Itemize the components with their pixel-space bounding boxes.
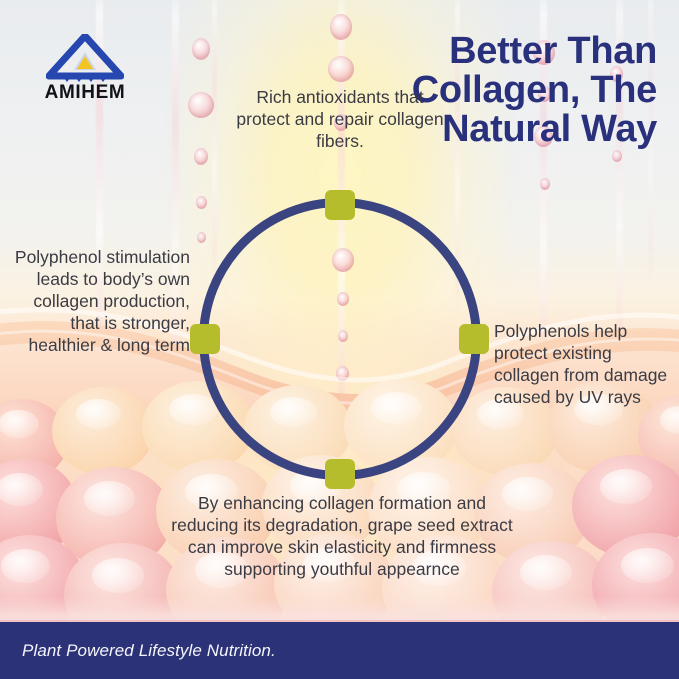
node-right-marker	[459, 324, 489, 354]
node-left-marker	[190, 324, 220, 354]
amihem-triangle-logo-icon	[46, 34, 124, 87]
benefit-top-text: Rich antioxidants that protect and repai…	[235, 86, 445, 152]
node-bottom-marker	[325, 459, 355, 489]
collagen-infographic: AMIHEM Better Than Collagen, The Natural…	[0, 0, 679, 679]
footer-bar: Plant Powered Lifestyle Nutrition.	[0, 622, 679, 679]
collagen-cycle-ring	[199, 198, 481, 480]
benefit-left-text: Polyphenol stimulation leads to body’s o…	[12, 246, 190, 356]
benefit-right-text: Polyphenols help protect existing collag…	[494, 320, 674, 408]
brand-name: AMIHEM	[25, 82, 145, 104]
brand-logo: AMIHEM	[25, 34, 145, 104]
footer-divider	[0, 620, 679, 622]
benefit-bottom-text: By enhancing collagen formation and redu…	[170, 492, 514, 580]
footer-tagline: Plant Powered Lifestyle Nutrition.	[22, 641, 276, 661]
node-top-marker	[325, 190, 355, 220]
